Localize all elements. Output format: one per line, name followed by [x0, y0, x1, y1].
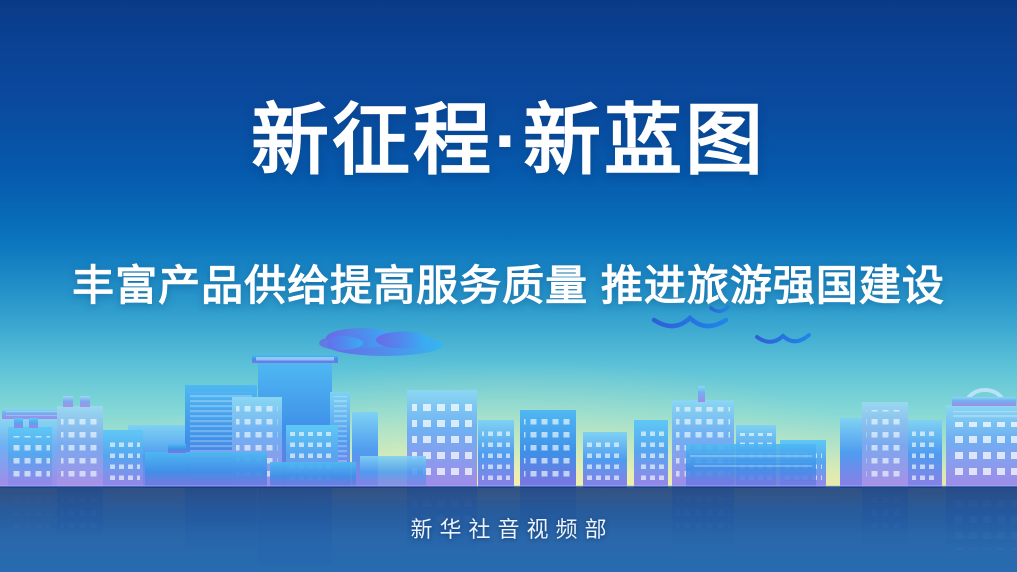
poster-title: 新征程·新蓝图 — [0, 97, 1017, 183]
poster-footer-credit: 新华社音视频部 — [0, 515, 1017, 545]
poster-canvas: 新征程·新蓝图 丰富产品供给提高服务质量 推进旅游强国建设 新华社音视频部 — [0, 0, 1017, 572]
poster-subtitle: 丰富产品供给提高服务质量 推进旅游强国建设 — [0, 261, 1017, 311]
horizon-line — [0, 485, 1017, 487]
flying-birds-icon — [654, 307, 809, 342]
cloud-icon — [319, 328, 443, 356]
